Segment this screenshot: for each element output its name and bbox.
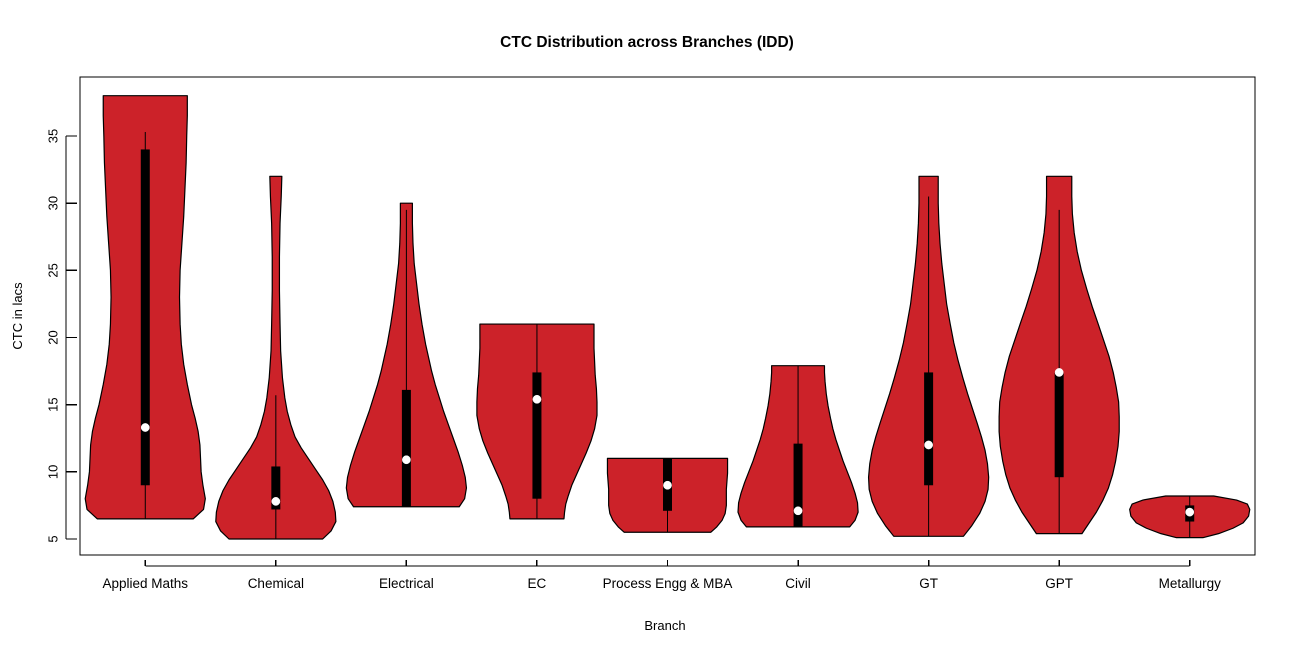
median-marker — [141, 423, 149, 431]
y-tick-label: 15 — [45, 397, 60, 411]
x-tick-label-gpt: GPT — [1045, 576, 1073, 591]
iqr-box — [532, 372, 541, 498]
x-tick-label-applied-maths: Applied Maths — [102, 576, 188, 591]
x-tick-label-gt: GT — [919, 576, 938, 591]
violin-process-engg-mba — [607, 458, 727, 532]
violin-plot-figure: CTC Distribution across Branches (IDD) 5… — [0, 0, 1294, 653]
x-tick-label-civil: Civil — [785, 576, 811, 591]
iqr-box — [141, 149, 150, 485]
x-axis-title: Branch — [644, 618, 685, 633]
y-tick-label: 25 — [45, 263, 60, 277]
y-tick-label: 35 — [45, 129, 60, 143]
median-marker — [1055, 368, 1063, 376]
y-axis-title: CTC in lacs — [10, 282, 25, 350]
y-tick-label: 5 — [45, 535, 60, 542]
x-tick-label-ec: EC — [528, 576, 547, 591]
median-marker — [402, 456, 410, 464]
x-tick-label-metallurgy: Metallurgy — [1159, 576, 1222, 591]
y-tick-label: 10 — [45, 465, 60, 479]
median-marker — [1186, 508, 1194, 516]
iqr-box — [1055, 372, 1064, 477]
chart-title: CTC Distribution across Branches (IDD) — [500, 34, 794, 51]
x-tick-label-chemical: Chemical — [248, 576, 304, 591]
y-tick-label: 20 — [45, 330, 60, 344]
median-marker — [272, 497, 280, 505]
y-tick-label: 30 — [45, 196, 60, 210]
median-marker — [925, 441, 933, 449]
median-marker — [533, 395, 541, 403]
x-tick-label-electrical: Electrical — [379, 576, 434, 591]
violin-plot-canvas: CTC Distribution across Branches (IDD) 5… — [0, 0, 1294, 653]
iqr-box — [924, 372, 933, 485]
median-marker — [794, 507, 802, 515]
median-marker — [663, 481, 671, 489]
x-tick-label-process-engg-mba: Process Engg & MBA — [603, 576, 733, 591]
iqr-box — [402, 390, 411, 507]
